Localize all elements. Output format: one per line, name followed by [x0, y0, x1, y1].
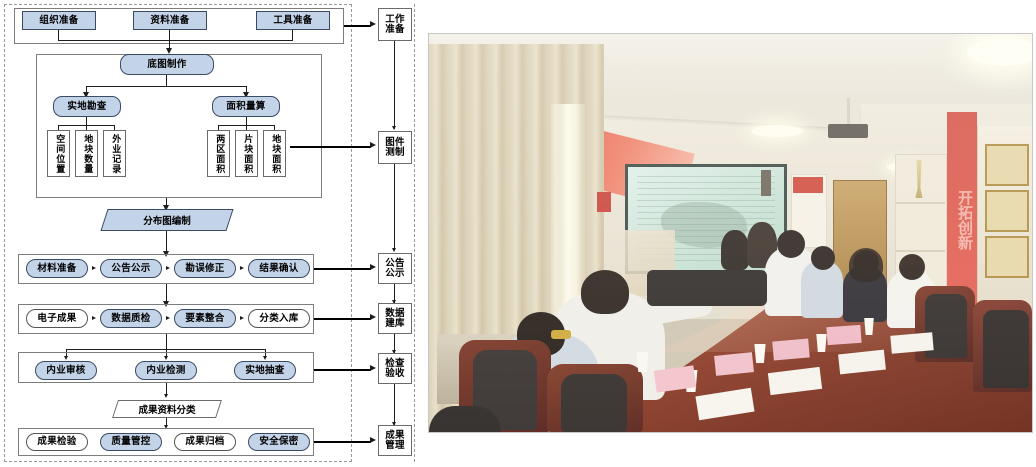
photo-certificate-2: [985, 190, 1029, 232]
line-fieldsurvey-down: [86, 117, 87, 125]
node-public-notice[interactable]: 公告公示: [100, 259, 162, 278]
node-tool-prep[interactable]: 工具准备: [256, 11, 330, 30]
photo-chair-2-cushion: [561, 374, 627, 432]
stage-result-mgmt[interactable]: 成果管理: [378, 425, 412, 456]
node-internal-test[interactable]: 内业检测: [135, 361, 197, 380]
photo-person-far-5-hair: [849, 248, 883, 282]
photo-doc-pink-2: [714, 352, 754, 376]
arrow-db-2: [166, 316, 170, 320]
stage-map-survey[interactable]: 图件测制: [378, 131, 412, 164]
arrow-pub-2: [166, 266, 170, 270]
line-dataprep-down: [169, 30, 170, 48]
node-result-confirm[interactable]: 结果确认: [248, 259, 310, 278]
node-parcel-area[interactable]: 地块面积: [263, 130, 286, 177]
photo-shelf-line-1: [895, 202, 945, 204]
node-area-calc[interactable]: 面积量算: [212, 96, 280, 117]
photo-certificate-3: [985, 236, 1029, 278]
photo-poster-board-1-head: [793, 177, 823, 193]
photo-ceiling-light-3: [967, 38, 1033, 66]
node-spatial-position[interactable]: 空间位置: [47, 130, 70, 177]
photo-doc-pink-3: [772, 338, 810, 360]
stage-inspection[interactable]: 检查验收: [378, 353, 412, 384]
photo-person-far-4-head: [811, 246, 835, 270]
photo-poster-red-1: [597, 192, 611, 212]
arrow-to-resultsort: [164, 394, 168, 398]
node-field-survey[interactable]: 实地勘查: [53, 96, 121, 117]
line-toolprep-down: [292, 30, 293, 40]
photo-person-near-2-glasses: [551, 330, 571, 339]
photo-ceiling-light-1: [751, 125, 803, 137]
line-basemap-down: [166, 75, 167, 86]
node-internal-review[interactable]: 内业审核: [35, 361, 97, 380]
arrow-db-3: [240, 316, 244, 320]
photo-shelf-line-2: [895, 250, 945, 252]
node-material-prep[interactable]: 材料准备: [26, 259, 88, 278]
node-errata-fix[interactable]: 勘误修正: [174, 259, 236, 278]
node-parcel-count[interactable]: 地块数量: [75, 130, 98, 177]
photo-person-far-1: [721, 230, 749, 270]
meeting-room-photo: 攻坚战 开拓创新: [428, 33, 1033, 433]
node-electronic-result[interactable]: 电子成果: [26, 309, 88, 328]
photo-person-far-6-head: [899, 254, 925, 280]
line-stage5-stage6: [394, 384, 395, 425]
line-areacalc-down: [246, 117, 247, 125]
node-org-prep[interactable]: 组织准备: [22, 11, 96, 30]
node-field-sampling[interactable]: 实地抽查: [234, 361, 296, 380]
node-field-record[interactable]: 外业记录: [103, 130, 126, 177]
photo-person-near-1-head: [581, 270, 629, 314]
line-orgprep-down: [58, 30, 59, 40]
node-two-zone-area[interactable]: 两区面积: [207, 130, 230, 177]
line-prep-bus: [58, 40, 293, 41]
line-stage2-stage3: [394, 164, 395, 251]
arrow-pub-1: [92, 266, 96, 270]
arrow-pub-3: [240, 266, 244, 270]
stage-work-prep[interactable]: 工作准备: [378, 8, 412, 41]
node-base-map[interactable]: 底图制作: [120, 54, 214, 75]
node-security-confidential[interactable]: 安全保密: [248, 433, 310, 451]
node-result-sorting-label: 成果资料分类: [115, 400, 219, 418]
photo-doc-white-4: [890, 332, 933, 354]
node-quality-control[interactable]: 质量管控: [100, 433, 162, 451]
node-patch-area[interactable]: 片块面积: [235, 130, 258, 177]
photo-doc-pink-4: [826, 325, 861, 345]
photo-projector-mount: [847, 98, 850, 126]
node-distribution-map-label: 分布图编制: [104, 209, 230, 231]
arrow-stage2-stage3: [392, 248, 396, 252]
line-stage1-stage2: [394, 41, 395, 129]
photo-chair-far-2-cushion: [983, 310, 1029, 388]
node-result-check[interactable]: 成果检验: [26, 433, 88, 451]
stage-column-dashed-frame: [357, 4, 415, 462]
arrow-stage1-stage2: [392, 126, 396, 130]
photo-wall-sign: [761, 170, 771, 196]
node-feature-merge[interactable]: 要素整合: [174, 309, 236, 328]
line-distmap-down: [166, 231, 167, 253]
photo-projector: [828, 124, 868, 138]
line-database-down: [166, 334, 167, 349]
stage-public-notice[interactable]: 公告公示: [378, 253, 412, 284]
node-result-archive[interactable]: 成果归档: [174, 433, 236, 451]
stage-database[interactable]: 数据建库: [378, 303, 412, 334]
node-data-quality[interactable]: 数据质检: [100, 309, 162, 328]
node-classify-import[interactable]: 分类入库: [248, 309, 310, 328]
photo-certificate-1: [985, 144, 1029, 186]
photo-person-far-3-head: [777, 230, 805, 258]
arrow-db-1: [92, 316, 96, 320]
node-data-prep[interactable]: 资料准备: [133, 11, 207, 30]
line-basemap-split: [86, 86, 247, 87]
photo-back-sofa: [647, 270, 767, 306]
